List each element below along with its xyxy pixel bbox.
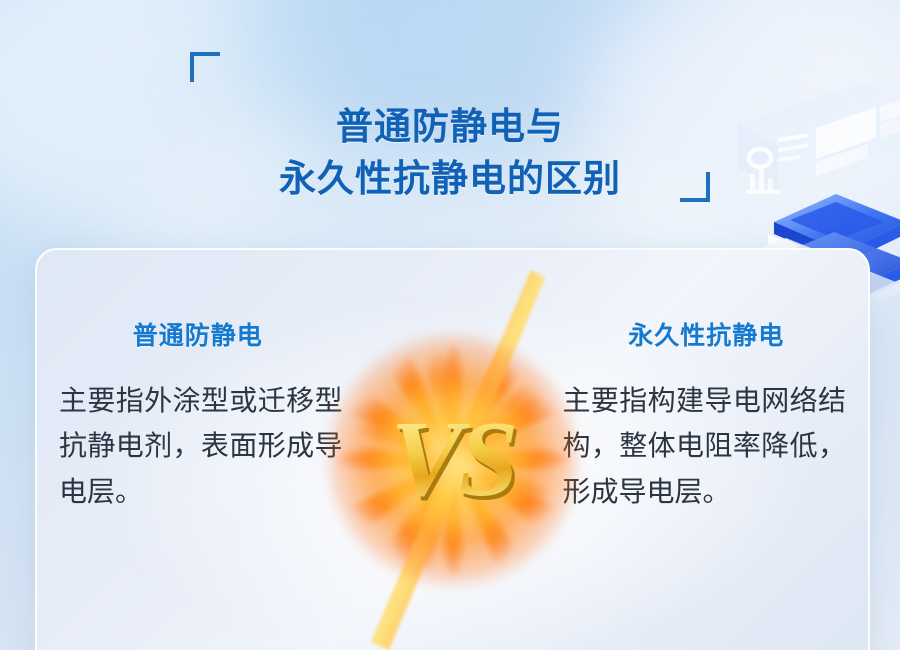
column-heading-ordinary: 普通防静电 [53, 316, 343, 352]
column-heading-permanent: 永久性抗静电 [563, 316, 851, 352]
poster-canvas: 普通防静电与 永久性抗静电的区别 普通防静电 主要指外涂型或迁移型抗静电剂，表面… [0, 0, 900, 650]
page-title: 普通防静电与 永久性抗静电的区别 [190, 101, 710, 206]
column-body-ordinary: 主要指外涂型或迁移型抗静电剂，表面形成导电层。 [59, 378, 343, 514]
column-body-permanent: 主要指构建导电网络结构，整体电阻率降低，形成导电层。 [563, 378, 847, 514]
comparison-card: 普通防静电 主要指外涂型或迁移型抗静电剂，表面形成导电层。 永久性抗静电 主要指… [35, 248, 870, 650]
comparison-columns: 普通防静电 主要指外涂型或迁移型抗静电剂，表面形成导电层。 永久性抗静电 主要指… [37, 250, 868, 650]
dashboard-screen [738, 82, 900, 194]
comparison-column-permanent: 永久性抗静电 主要指构建导电网络结构，整体电阻率降低，形成导电层。 [453, 250, 869, 650]
corner-bracket-top-left-icon [190, 52, 220, 82]
comparison-column-ordinary: 普通防静电 主要指外涂型或迁移型抗静电剂，表面形成导电层。 [37, 250, 453, 650]
title-block: 普通防静电与 永久性抗静电的区别 [190, 52, 710, 202]
